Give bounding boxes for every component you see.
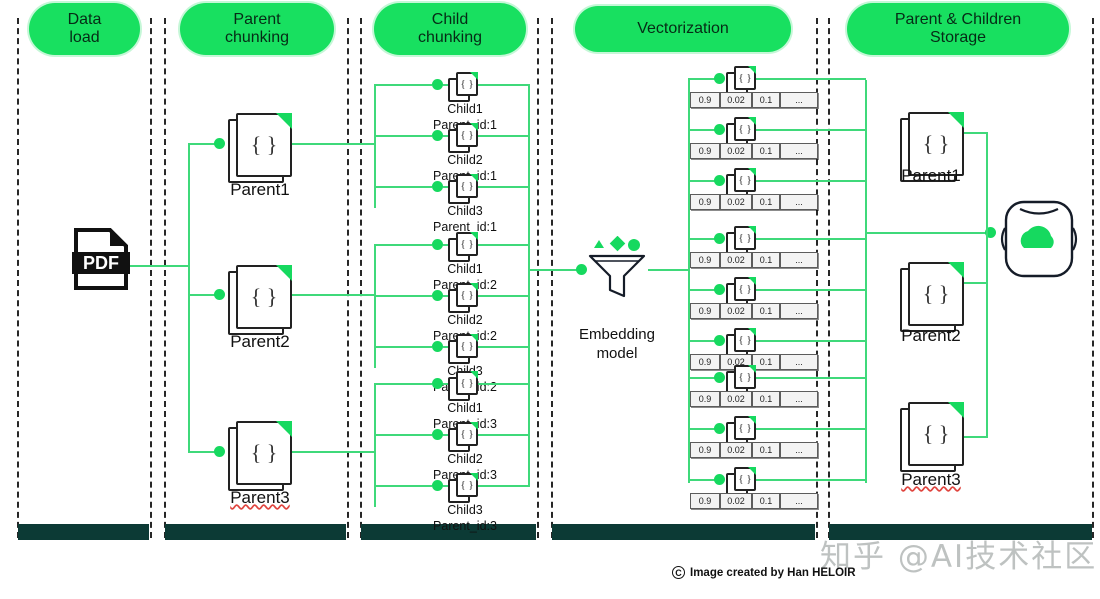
vector-cell: 0.9 bbox=[690, 194, 720, 210]
svg-text:PDF: PDF bbox=[83, 253, 119, 273]
vector-cell: 0.1 bbox=[752, 354, 780, 370]
embedding-vector-9: 0.90.020.1... bbox=[690, 493, 818, 509]
vector-cell: 0.9 bbox=[690, 252, 720, 268]
vector-cell: ... bbox=[780, 354, 818, 370]
document-front-sheet: { } bbox=[236, 113, 292, 177]
embedding-vector-8: 0.90.020.1... bbox=[690, 442, 818, 458]
copyright-icon: C bbox=[672, 566, 685, 579]
edge-stored-parent1-down bbox=[986, 132, 988, 232]
lane-header-parent-chunking-line2: chunking bbox=[225, 29, 289, 47]
child-document-icon-9: { } bbox=[448, 473, 478, 505]
edge-dot-vector-9 bbox=[714, 474, 725, 485]
edge-to-child-2-3 bbox=[374, 346, 432, 348]
edge-dot-vector-2 bbox=[714, 124, 725, 135]
edge-dot-child-8 bbox=[432, 429, 443, 440]
child-name: Child1 bbox=[398, 102, 532, 118]
parent-document-icon-3: { } bbox=[228, 421, 292, 493]
vector-cell: 0.9 bbox=[690, 143, 720, 159]
parent-label-3: Parent3 bbox=[198, 488, 322, 508]
document-front-sheet: { } bbox=[734, 168, 756, 192]
lane-separator-1a bbox=[150, 18, 152, 538]
edge-dot-vector-4 bbox=[714, 233, 725, 244]
page-fold-corner-icon bbox=[748, 117, 756, 125]
child-name: Child2 bbox=[398, 153, 532, 169]
edge-stored-parent3-out bbox=[964, 436, 988, 438]
document-front-sheet: { } bbox=[734, 328, 756, 352]
vector-cell: ... bbox=[780, 303, 818, 319]
embedding-vector-2: 0.90.020.1... bbox=[690, 143, 818, 159]
page-fold-corner-icon bbox=[276, 113, 292, 129]
document-front-sheet: { } bbox=[908, 402, 964, 466]
lane-separator-left-edge bbox=[17, 18, 19, 538]
edge-dot-parent1 bbox=[214, 138, 225, 149]
child-document-icon-8: { } bbox=[448, 422, 478, 454]
image-credit-text: Image created by Han HELOIR bbox=[690, 567, 856, 579]
lane-header-storage-line1: Parent & Children bbox=[895, 11, 1021, 29]
lane-header-vectorization-label: Vectorization bbox=[637, 20, 729, 38]
edge-dot-child-7 bbox=[432, 378, 443, 389]
vector-cell: ... bbox=[780, 92, 818, 108]
child-name: Child1 bbox=[398, 262, 532, 278]
edge-dot-vector-1 bbox=[714, 73, 725, 84]
lane-footer-bar-data-load bbox=[18, 524, 149, 540]
lane-separator-2a bbox=[347, 18, 349, 538]
document-front-sheet: { } bbox=[456, 422, 478, 446]
edge-parent-fanout-spine bbox=[188, 143, 190, 453]
edge-parent1-out bbox=[292, 143, 374, 145]
lane-header-child-chunking-line1: Child bbox=[432, 11, 468, 29]
child-document-icon-3: { } bbox=[448, 174, 478, 206]
child-label-3: Child3Parent_id:1 bbox=[398, 204, 532, 235]
embedding-vector-7: 0.90.020.1... bbox=[690, 391, 818, 407]
vector-cell: 0.02 bbox=[720, 143, 752, 159]
json-braces-glyph: { } bbox=[923, 421, 950, 447]
vector-cell: 0.02 bbox=[720, 194, 752, 210]
edge-dot-child-4 bbox=[432, 239, 443, 250]
document-front-sheet: { } bbox=[734, 467, 756, 491]
edge-dot-vector-6 bbox=[714, 335, 725, 346]
vector-cell: 0.02 bbox=[720, 92, 752, 108]
vector-cell: 0.1 bbox=[752, 493, 780, 509]
page-fold-corner-icon bbox=[276, 265, 292, 281]
lane-separator-1b bbox=[164, 18, 166, 538]
parent-label-1: Parent1 bbox=[198, 180, 322, 200]
lane-header-vectorization[interactable]: Vectorization bbox=[575, 6, 791, 52]
page-fold-corner-icon bbox=[748, 168, 756, 176]
page-fold-corner-icon bbox=[470, 72, 478, 80]
edge-to-child-1-2 bbox=[374, 135, 432, 137]
edge-dot-child-6 bbox=[432, 341, 443, 352]
edge-child-group2-spine bbox=[374, 244, 376, 368]
edge-to-child-3-2 bbox=[374, 434, 432, 436]
edge-to-child-3-3 bbox=[374, 485, 432, 487]
edge-parent2-out bbox=[292, 294, 374, 296]
vector-cell: ... bbox=[780, 194, 818, 210]
parent-label-2: Parent2 bbox=[198, 332, 322, 352]
edge-child-group1-spine bbox=[374, 84, 376, 208]
vector-cell: ... bbox=[780, 252, 818, 268]
vector-cell: 0.1 bbox=[752, 442, 780, 458]
document-front-sheet: { } bbox=[456, 283, 478, 307]
child-name: Child3 bbox=[398, 204, 532, 220]
edge-dot-child-2 bbox=[432, 130, 443, 141]
edge-vector-2-out bbox=[752, 129, 866, 131]
edge-vector-3-out bbox=[752, 180, 866, 182]
vector-cell: 0.1 bbox=[752, 303, 780, 319]
edge-to-child-1-3 bbox=[374, 186, 432, 188]
vector-cell: 0.1 bbox=[752, 92, 780, 108]
vector-cell: 0.9 bbox=[690, 354, 720, 370]
document-front-sheet: { } bbox=[456, 334, 478, 358]
document-front-sheet: { } bbox=[734, 277, 756, 301]
embedding-model-label: Embedding model bbox=[558, 326, 676, 364]
edge-to-child-2-2 bbox=[374, 295, 432, 297]
edge-dot-vector-8 bbox=[714, 423, 725, 434]
page-fold-corner-icon bbox=[748, 365, 756, 373]
page-fold-corner-icon bbox=[948, 402, 964, 418]
vector-cell: 0.02 bbox=[720, 493, 752, 509]
embedding-vector-4: 0.90.020.1... bbox=[690, 252, 818, 268]
child-name: Child2 bbox=[398, 313, 532, 329]
document-front-sheet: { } bbox=[236, 265, 292, 329]
child-label-9: Child3Parent_id:3 bbox=[398, 503, 532, 534]
stored-parent-label-3: Parent3 bbox=[866, 470, 996, 490]
edge-dot-vector-7 bbox=[714, 372, 725, 383]
image-credit: C Image created by Han HELOIR bbox=[672, 566, 856, 579]
edge-vector-9-out bbox=[752, 479, 866, 481]
edge-vector-8-out bbox=[752, 428, 866, 430]
json-braces-glyph: { } bbox=[251, 132, 278, 158]
stored-parent-document-icon-3: { } bbox=[900, 402, 964, 474]
lane-separator-3b bbox=[551, 18, 553, 538]
embedding-vector-3: 0.90.020.1... bbox=[690, 194, 818, 210]
page-fold-corner-icon bbox=[948, 112, 964, 128]
edge-pdf-to-parents bbox=[130, 265, 188, 267]
edge-dot-vector-3 bbox=[714, 175, 725, 186]
child-document-icon-2: { } bbox=[448, 123, 478, 155]
lane-footer-bar-parent-chunking bbox=[165, 524, 346, 540]
stored-parent-document-icon-2: { } bbox=[900, 262, 964, 334]
document-front-sheet: { } bbox=[456, 174, 478, 198]
edge-embedding-out bbox=[648, 269, 688, 271]
vector-cell: ... bbox=[780, 143, 818, 159]
vector-cell: 0.02 bbox=[720, 391, 752, 407]
document-front-sheet: { } bbox=[236, 421, 292, 485]
page-fold-corner-icon bbox=[276, 421, 292, 437]
document-front-sheet: { } bbox=[734, 226, 756, 250]
vector-cell: 0.1 bbox=[752, 143, 780, 159]
embedding-vector-1: 0.90.020.1... bbox=[690, 92, 818, 108]
lane-separator-2b bbox=[360, 18, 362, 538]
document-front-sheet: { } bbox=[456, 123, 478, 147]
edge-vector-collector-spine bbox=[865, 80, 867, 483]
edge-vector-6-out bbox=[752, 340, 866, 342]
edge-stored-parent3-up bbox=[986, 232, 988, 438]
page-fold-corner-icon bbox=[470, 283, 478, 291]
lane-header-data-load-line2: load bbox=[69, 29, 99, 47]
vector-cell: 0.9 bbox=[690, 442, 720, 458]
vector-cell: 0.9 bbox=[690, 303, 720, 319]
vector-cell: 0.9 bbox=[690, 391, 720, 407]
child-document-icon-1: { } bbox=[448, 72, 478, 104]
page-fold-corner-icon bbox=[748, 66, 756, 74]
page-fold-corner-icon bbox=[948, 262, 964, 278]
lane-header-storage[interactable]: Parent & Children Storage bbox=[847, 3, 1069, 55]
edge-vector-4-out bbox=[752, 238, 866, 240]
pdf-file-icon: PDF bbox=[72, 228, 130, 290]
vector-cell: 0.1 bbox=[752, 252, 780, 268]
lane-header-child-chunking-line2: chunking bbox=[418, 29, 482, 47]
edge-to-child-1-1 bbox=[374, 84, 432, 86]
funnel-icon-svg bbox=[586, 236, 648, 302]
vector-cell: 0.1 bbox=[752, 194, 780, 210]
child-name: Child3 bbox=[398, 503, 532, 519]
page-fold-corner-icon bbox=[470, 473, 478, 481]
lane-header-parent-chunking[interactable]: Parent chunking bbox=[180, 3, 334, 55]
document-front-sheet: { } bbox=[734, 416, 756, 440]
lane-separator-3a bbox=[537, 18, 539, 538]
child-document-icon-4: { } bbox=[448, 232, 478, 264]
page-fold-corner-icon bbox=[470, 371, 478, 379]
document-front-sheet: { } bbox=[456, 232, 478, 256]
document-front-sheet: { } bbox=[734, 117, 756, 141]
page-fold-corner-icon bbox=[470, 174, 478, 182]
embedding-model-label-line2: model bbox=[558, 345, 676, 364]
vector-cell: 0.1 bbox=[752, 391, 780, 407]
page-fold-corner-icon bbox=[470, 334, 478, 342]
json-braces-glyph: { } bbox=[923, 131, 950, 157]
child-name: Child2 bbox=[398, 452, 532, 468]
lane-header-data-load-line1: Data bbox=[68, 11, 102, 29]
page-fold-corner-icon bbox=[470, 422, 478, 430]
diagram-canvas: Data load Parent chunking Child chunking… bbox=[0, 0, 1100, 599]
vector-cell: ... bbox=[780, 391, 818, 407]
edge-child-group3-spine bbox=[374, 383, 376, 507]
lane-header-storage-line2: Storage bbox=[930, 29, 986, 47]
edge-dot-parent3 bbox=[214, 446, 225, 457]
cloud-database-icon-svg bbox=[998, 198, 1080, 280]
edge-vector-7-out bbox=[752, 377, 866, 379]
parent-document-icon-1: { } bbox=[228, 113, 292, 185]
vector-cell: 0.9 bbox=[690, 493, 720, 509]
cloud-database-icon bbox=[998, 198, 1080, 280]
child-parent-id: Parent_id:3 bbox=[398, 519, 532, 535]
page-fold-corner-icon bbox=[748, 416, 756, 424]
edge-to-database bbox=[865, 232, 989, 234]
json-braces-glyph: { } bbox=[251, 440, 278, 466]
child-document-icon-5: { } bbox=[448, 283, 478, 315]
vector-cell: ... bbox=[780, 442, 818, 458]
page-fold-corner-icon bbox=[748, 277, 756, 285]
document-front-sheet: { } bbox=[734, 365, 756, 389]
document-front-sheet: { } bbox=[734, 66, 756, 90]
lane-separator-4b bbox=[828, 18, 830, 538]
vector-cell: ... bbox=[780, 493, 818, 509]
edge-dot-vector-5 bbox=[714, 284, 725, 295]
funnel-icon bbox=[586, 236, 648, 302]
stored-parent-label-2: Parent2 bbox=[866, 326, 996, 346]
lane-header-child-chunking[interactable]: Child chunking bbox=[374, 3, 526, 55]
child-document-icon-6: { } bbox=[448, 334, 478, 366]
edge-vector-5-out bbox=[752, 289, 866, 291]
page-fold-corner-icon bbox=[470, 123, 478, 131]
edge-dot-child-1 bbox=[432, 79, 443, 90]
child-name: Child1 bbox=[398, 401, 532, 417]
child-document-icon-7: { } bbox=[448, 371, 478, 403]
page-fold-corner-icon bbox=[748, 467, 756, 475]
stored-parent-label-1: Parent1 bbox=[866, 166, 996, 186]
edge-parent3-out bbox=[292, 451, 374, 453]
vector-cell: 0.9 bbox=[690, 92, 720, 108]
edge-stored-parent2-out bbox=[964, 282, 988, 284]
document-front-sheet: { } bbox=[456, 72, 478, 96]
lane-separator-right-edge bbox=[1092, 18, 1094, 538]
edge-dot-child-5 bbox=[432, 290, 443, 301]
vector-cell: 0.02 bbox=[720, 303, 752, 319]
lane-header-parent-chunking-line1: Parent bbox=[233, 11, 280, 29]
lane-header-data-load[interactable]: Data load bbox=[29, 3, 140, 55]
edge-dot-child-9 bbox=[432, 480, 443, 491]
edge-vector-fanout-spine bbox=[688, 80, 690, 483]
embedding-model-label-line1: Embedding bbox=[558, 326, 676, 345]
page-fold-corner-icon bbox=[748, 328, 756, 336]
vector-cell: 0.02 bbox=[720, 252, 752, 268]
document-front-sheet: { } bbox=[908, 262, 964, 326]
pdf-file-icon-svg: PDF bbox=[72, 228, 130, 290]
edge-dot-parent2 bbox=[214, 289, 225, 300]
embedding-vector-5: 0.90.020.1... bbox=[690, 303, 818, 319]
edge-stored-parent1-out bbox=[964, 132, 988, 134]
edge-children-to-embedding bbox=[528, 269, 578, 271]
json-braces-glyph: { } bbox=[923, 281, 950, 307]
watermark-text: 知乎 @AI技术社区 bbox=[820, 531, 1097, 576]
document-front-sheet: { } bbox=[456, 371, 478, 395]
edge-children-collector-spine bbox=[528, 84, 530, 487]
lane-footer-bar-vectorization bbox=[552, 524, 815, 540]
edge-to-child-2-1 bbox=[374, 244, 432, 246]
parent-document-icon-2: { } bbox=[228, 265, 292, 337]
document-front-sheet: { } bbox=[456, 473, 478, 497]
page-fold-corner-icon bbox=[748, 226, 756, 234]
edge-dot-child-3 bbox=[432, 181, 443, 192]
edge-vector-1-out bbox=[752, 78, 866, 80]
json-braces-glyph: { } bbox=[251, 284, 278, 310]
page-fold-corner-icon bbox=[470, 232, 478, 240]
vector-cell: 0.02 bbox=[720, 442, 752, 458]
